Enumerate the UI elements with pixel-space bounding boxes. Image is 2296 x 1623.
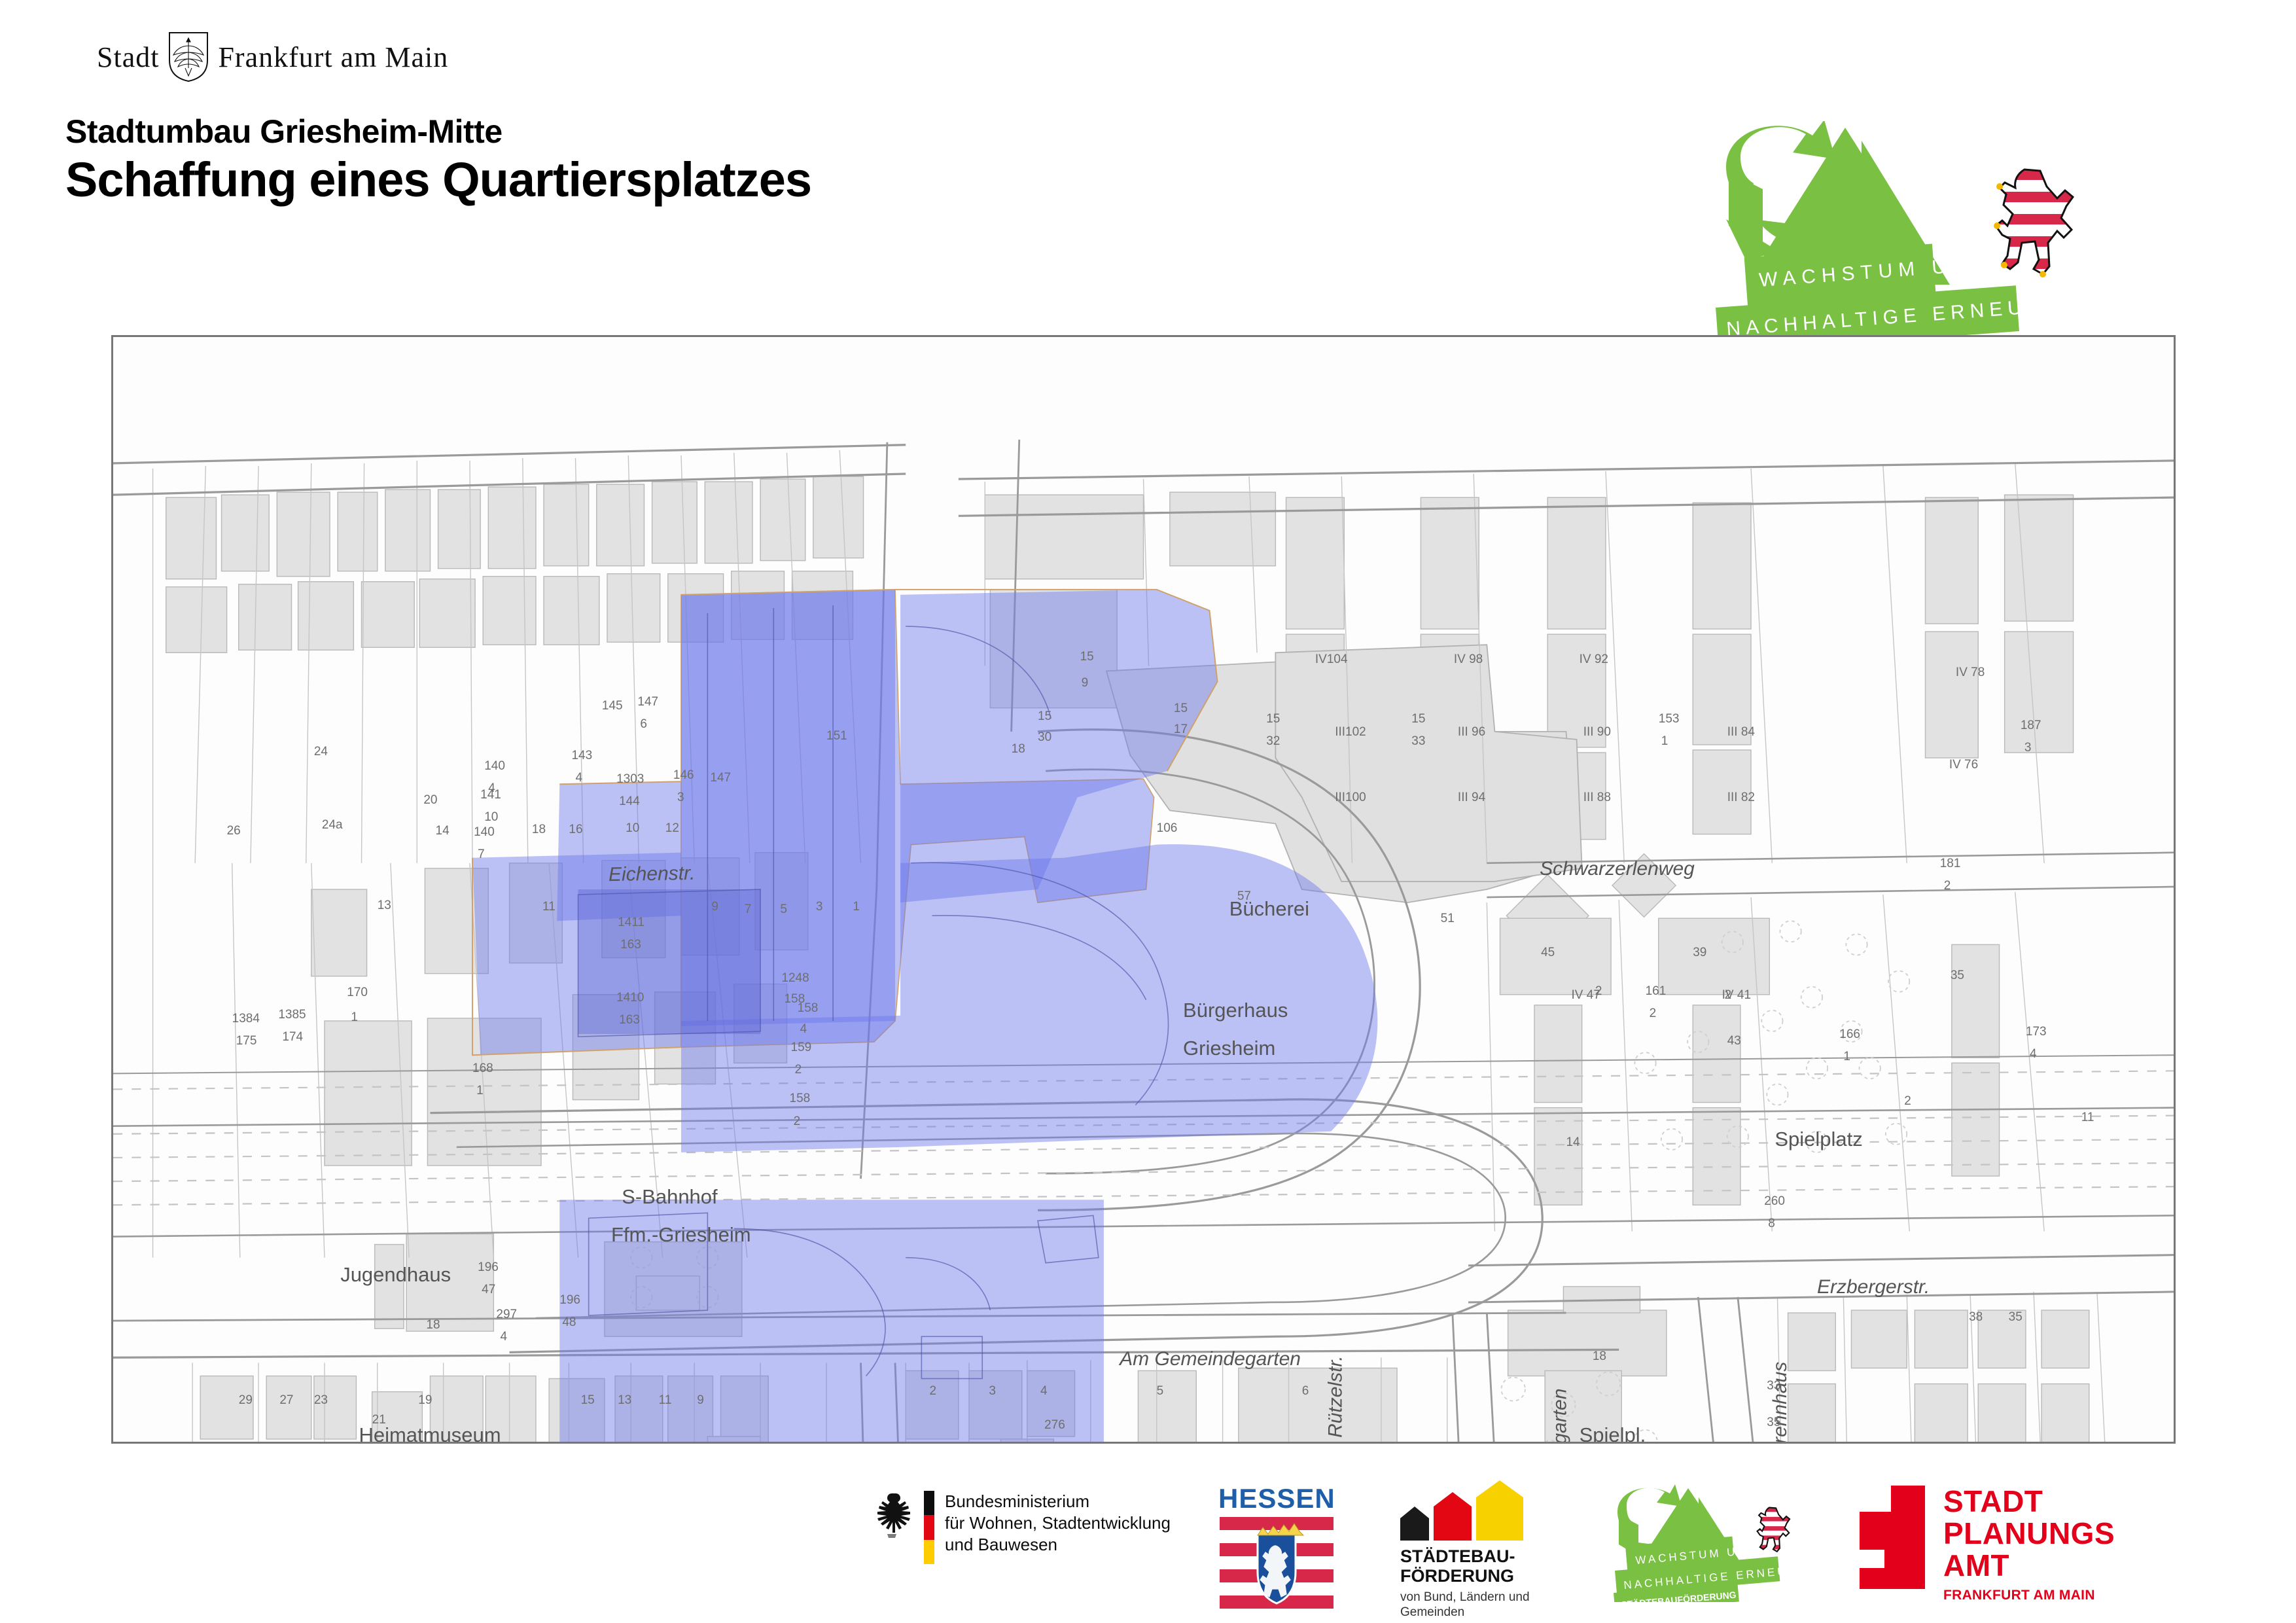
wachstum-badge-footer: WACHSTUM UND NACHHALTIGE ERNEUERUNG STÄD… xyxy=(1610,1484,1826,1602)
house-number-label: 163 xyxy=(619,1013,640,1027)
house-number-label: 141 xyxy=(480,788,501,802)
house-number-label: IV 98 xyxy=(1454,652,1483,667)
house-number-label: 1 xyxy=(853,900,860,914)
house-number-label: 15 xyxy=(1174,702,1188,716)
house-number-label: 297 xyxy=(496,1308,517,1322)
house-number-label: IV 78 xyxy=(1956,666,1985,680)
house-number-label: III 90 xyxy=(1583,725,1611,740)
house-number-label: 15 xyxy=(1266,712,1280,726)
house-number-label: 6 xyxy=(1302,1384,1309,1399)
germany-flag-bar xyxy=(924,1491,934,1564)
house-number-label: 18 xyxy=(1593,1349,1606,1364)
house-number-label: 48 xyxy=(562,1315,576,1330)
house-number-label: 158 xyxy=(790,1092,811,1106)
house-number-label: 6 xyxy=(640,717,647,732)
house-number-label: 181 xyxy=(1940,857,1961,871)
house-number-label: IV104 xyxy=(1315,652,1348,667)
spa-line2: PLANUNGS xyxy=(1943,1518,2115,1550)
house-number-label: 9 xyxy=(1082,676,1089,690)
hessen-wordmark: HESSEN xyxy=(1218,1483,1335,1514)
house-number-label: 196 xyxy=(478,1260,499,1275)
house-number-label: 12 xyxy=(665,821,679,836)
house-number-label: 23 xyxy=(314,1393,328,1408)
house-number-label: 9 xyxy=(711,900,718,914)
house-number-label: 15 xyxy=(1411,712,1425,726)
house-number-label: 1410 xyxy=(616,991,644,1005)
bmwsb-logo: Bundesministerium für Wohnen, Stadtentwi… xyxy=(870,1491,1171,1564)
house-number-label: 13 xyxy=(618,1393,631,1408)
street-label: Am Gemeindegarten xyxy=(1120,1348,1301,1370)
house-number-label: 2 xyxy=(794,1115,801,1129)
house-number-label: 35 xyxy=(2009,1310,2022,1325)
house-number-label: 8 xyxy=(1768,1217,1775,1231)
street-label: Obere Rützelstr. xyxy=(1325,1355,1347,1444)
house-number-label: 16 xyxy=(569,823,582,837)
house-number-label: 11 xyxy=(659,1393,672,1408)
street-label: Eichenstr. xyxy=(609,863,696,886)
spa-line1: STADT xyxy=(1943,1486,2115,1518)
hessen-logo: HESSEN xyxy=(1218,1483,1335,1614)
house-number-label: 51 xyxy=(1441,912,1455,926)
project-subtitle: Stadtumbau Griesheim-Mitte xyxy=(65,113,503,151)
poi-label: Spielpl. xyxy=(1580,1423,1646,1444)
house-number-label: 32 xyxy=(1266,734,1280,749)
cadastral-map[interactable]: Eichenstr.SchwarzerlenwegErzbergerstr.Am… xyxy=(111,335,2176,1444)
house-number-label: 144 xyxy=(619,794,640,809)
house-number-label: III100 xyxy=(1335,791,1366,805)
house-number-label: 2 xyxy=(1650,1007,1657,1021)
city-logo-word-stadt: Stadt xyxy=(97,41,159,74)
house-number-label: 4 xyxy=(500,1330,507,1344)
spa-line3: AMT xyxy=(1943,1550,2115,1582)
house-number-label: 9 xyxy=(697,1393,704,1408)
house-number-label: 4 xyxy=(1048,1440,1055,1444)
house-number-label: 170 xyxy=(347,986,368,1000)
city-logo-word-frankfurt: Frankfurt am Main xyxy=(218,41,448,74)
house-number-label: 1385 xyxy=(278,1008,306,1022)
house-number-label: 7 xyxy=(478,847,485,862)
house-number-label: 140 xyxy=(484,759,505,774)
house-number-label: 18 xyxy=(1012,742,1025,757)
house-number-label: III102 xyxy=(1335,725,1366,740)
house-number-label: 35 xyxy=(1767,1416,1780,1430)
house-number-label: 166 xyxy=(1839,1027,1860,1042)
house-number-label: 1248 xyxy=(781,971,809,986)
house-number-label: 4 xyxy=(576,771,583,785)
house-number-label: 158 xyxy=(798,1001,819,1016)
house-number-label: 196 xyxy=(559,1293,580,1308)
house-number-label: 15 xyxy=(1080,650,1094,664)
house-number-label: 19 xyxy=(418,1393,432,1408)
house-number-label: 5 xyxy=(780,902,787,917)
house-number-label: 39 xyxy=(1693,946,1706,960)
house-number-label: 17 xyxy=(1174,722,1188,737)
bmwsb-line3: und Bauwesen xyxy=(945,1534,1171,1556)
house-number-label: 45 xyxy=(1541,946,1555,960)
house-number-label: 143 xyxy=(571,749,592,763)
house-number-label: 3 xyxy=(816,900,823,914)
house-number-label: 147 xyxy=(710,771,731,785)
recycle-arrow-tree-icon-small: WACHSTUM UND NACHHALTIGE ERNEUERUNG STÄD… xyxy=(1610,1484,1826,1602)
house-number-label: III 94 xyxy=(1458,791,1485,805)
house-number-label: IV 92 xyxy=(1580,652,1608,667)
house-number-label: 11 xyxy=(542,900,556,914)
spa-subline: FRANKFURT AM MAIN xyxy=(1943,1588,2115,1603)
poi-label: Ffm.-Griesheim xyxy=(611,1223,751,1247)
house-number-label: 2 xyxy=(1944,879,1951,893)
poi-label: Bürgerhaus xyxy=(1183,999,1288,1022)
city-logo: Stadt Frankfurt am Main xyxy=(97,31,448,82)
house-number-label: 24a xyxy=(322,818,343,832)
poi-label: Spielplatz xyxy=(1775,1128,1862,1151)
house-number-label: 4 xyxy=(1040,1384,1048,1399)
bundesadler-icon xyxy=(870,1491,913,1544)
house-number-label: 30 xyxy=(1038,730,1051,745)
house-number-label: 1384 xyxy=(232,1012,260,1026)
street-label: Schwarzerlenweg xyxy=(1540,858,1695,880)
sbf-line3: von Bund, Ländern und xyxy=(1400,1590,1577,1605)
house-number-label: 43 xyxy=(1727,1034,1741,1048)
house-number-label: 33 xyxy=(1767,1379,1780,1393)
house-number-label: 18 xyxy=(426,1318,440,1332)
house-number-label: 187 xyxy=(2021,719,2041,733)
house-number-label: 174 xyxy=(282,1030,303,1044)
house-number-label: IV 76 xyxy=(1949,758,1978,772)
street-label: Erzbergerstr. xyxy=(1817,1276,1930,1298)
house-number-label: 163 xyxy=(620,938,641,952)
house-number-label: III 82 xyxy=(1727,791,1755,805)
house-number-label: 2 xyxy=(1595,984,1602,999)
house-number-label: 18 xyxy=(532,823,546,837)
stadtplanungsamt-mark-icon xyxy=(1852,1486,1925,1589)
house-number-label: 2 xyxy=(1904,1094,1911,1109)
house-number-label: 1 xyxy=(476,1084,484,1098)
house-number-label: 38 xyxy=(1969,1310,1983,1325)
house-number-label: 26 xyxy=(227,824,241,838)
bmwsb-text: Bundesministerium für Wohnen, Stadtentwi… xyxy=(945,1491,1171,1555)
house-number-label: 4 xyxy=(800,1022,807,1037)
house-number-label: 14 xyxy=(1566,1135,1580,1150)
house-number-label: III 84 xyxy=(1727,725,1755,740)
house-number-label: 173 xyxy=(2026,1025,2047,1039)
house-number-label: 57 xyxy=(1237,889,1251,904)
staedtebaufoerderung-logo: STÄDTEBAU- FÖRDERUNG von Bund, Ländern u… xyxy=(1400,1487,1577,1620)
house-number-label: 33 xyxy=(1411,734,1425,749)
house-number-label: 10 xyxy=(484,810,498,825)
house-number-label: 3 xyxy=(677,791,684,805)
poster-page: Stadt Frankfurt am Main Stadtumbau Gries… xyxy=(0,0,2296,1623)
house-number-label: 15 xyxy=(1038,709,1051,724)
house-number-label: 5 xyxy=(1157,1384,1164,1399)
bmwsb-line1: Bundesministerium xyxy=(945,1491,1171,1512)
house-number-label: III 96 xyxy=(1458,725,1485,740)
house-number-label: 1 xyxy=(1661,734,1669,749)
house-number-label: 47 xyxy=(482,1283,495,1297)
stadtplanungsamt-logo: STADT PLANUNGS AMT FRANKFURT AM MAIN xyxy=(1852,1486,2115,1603)
house-number-label: 3 xyxy=(989,1384,996,1399)
house-number-label: 159 xyxy=(791,1041,812,1055)
house-number-label: III 88 xyxy=(1583,791,1611,805)
house-number-label: 153 xyxy=(1659,712,1680,726)
house-number-label: 1 xyxy=(1843,1050,1850,1064)
poi-label: Griesheim xyxy=(1183,1037,1275,1060)
hessen-flag-crest-icon xyxy=(1218,1514,1335,1611)
house-number-label: 276 xyxy=(1044,1418,1065,1433)
house-number-label: 2 xyxy=(795,1063,802,1077)
frankfurt-eagle-crest-icon xyxy=(168,31,209,82)
house-number-label: 7 xyxy=(745,902,752,917)
house-number-label: 2 xyxy=(929,1384,936,1399)
house-number-label: 151 xyxy=(826,729,847,743)
sbf-line4: Gemeinden xyxy=(1400,1605,1577,1620)
house-number-label: 14 xyxy=(436,824,450,838)
street-label: Am Gemeindegarten xyxy=(1549,1389,1571,1444)
poi-label: Jugendhaus xyxy=(340,1263,451,1287)
house-number-label: 27 xyxy=(279,1393,293,1408)
street-label: Am Brennhaus xyxy=(1769,1362,1792,1444)
house-number-label: 3 xyxy=(2024,741,2032,755)
house-number-label: 11 xyxy=(2081,1111,2094,1125)
hessen-lion-icon xyxy=(1984,158,2082,289)
house-number-label: 260 xyxy=(1764,1194,1785,1209)
house-number-label: 147 xyxy=(637,695,658,709)
poi-label: S-Bahnhof xyxy=(622,1185,718,1209)
page-title: Schaffung eines Quartiersplatzes xyxy=(65,152,811,207)
house-number-label: 15 xyxy=(581,1393,595,1408)
house-number-label: 21 xyxy=(372,1413,386,1427)
house-number-label: 24 xyxy=(314,745,328,759)
house-number-label: 168 xyxy=(472,1061,493,1076)
house-number-label: 1303 xyxy=(616,772,644,787)
sbf-line2: FÖRDERUNG xyxy=(1400,1567,1577,1586)
house-number-label: 106 xyxy=(1157,821,1178,836)
house-number-label: 161 xyxy=(1646,984,1667,999)
house-number-label: 1 xyxy=(351,1010,358,1025)
house-number-label: 10 xyxy=(626,821,639,836)
footer-logos: Bundesministerium für Wohnen, Stadtentwi… xyxy=(0,1478,2296,1609)
three-houses-icon xyxy=(1400,1487,1577,1541)
house-number-label: 2 xyxy=(1725,988,1732,1003)
house-number-label: 145 xyxy=(602,699,623,713)
house-number-label: 175 xyxy=(236,1034,257,1048)
house-number-label: 13 xyxy=(378,899,391,913)
house-number-label: 20 xyxy=(423,793,437,808)
house-number-label: 146 xyxy=(673,768,694,783)
sbf-line1: STÄDTEBAU- xyxy=(1400,1547,1577,1567)
house-number-label: 29 xyxy=(239,1393,253,1408)
house-number-label: 35 xyxy=(1951,969,1964,983)
house-number-label: 1411 xyxy=(618,916,645,930)
bmwsb-line2: für Wohnen, Stadtentwicklung xyxy=(945,1512,1171,1534)
house-number-label: 4 xyxy=(2030,1047,2037,1061)
house-number-label: 140 xyxy=(474,825,495,840)
